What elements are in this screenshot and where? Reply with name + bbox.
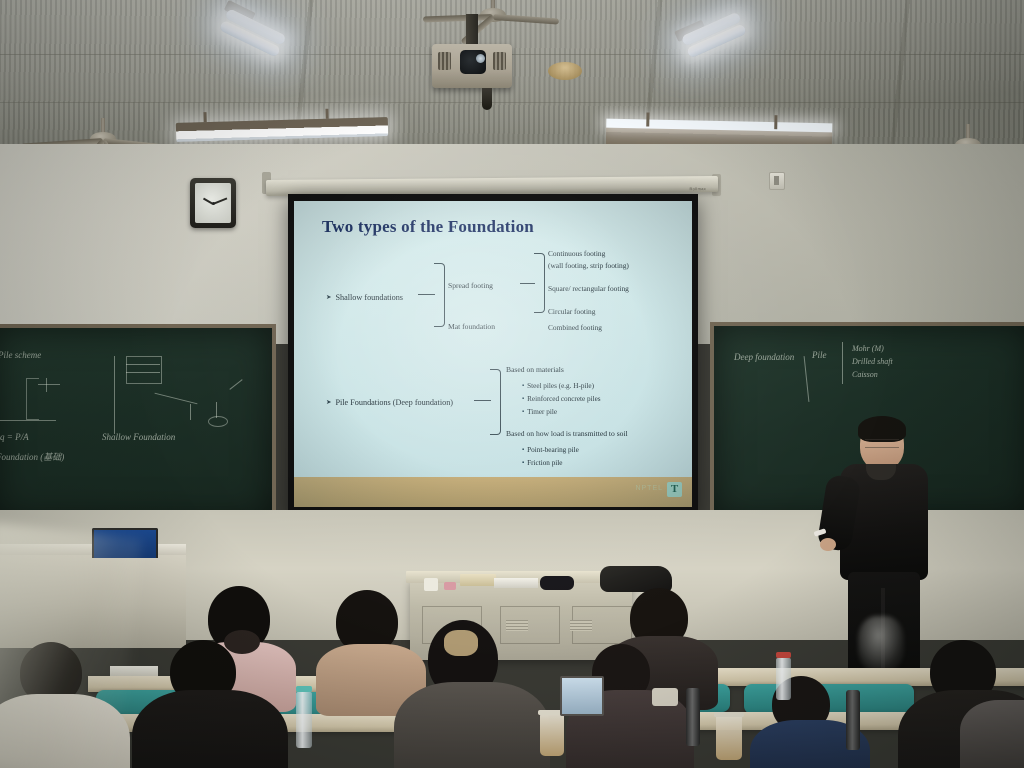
slide-bullet-friction-pile: Friction pile — [522, 459, 562, 467]
thermos-tumbler — [686, 688, 700, 746]
ceiling-projector — [432, 44, 512, 88]
chalk-note-left-1: Pile scheme — [0, 350, 41, 360]
slide-bullet-timer-pile: Timer pile — [522, 408, 557, 416]
student-row1-center — [410, 620, 532, 768]
water-bottle-right — [776, 658, 791, 700]
slide-node-based-on-load-transfer: Based on how load is transmitted to soil — [506, 429, 628, 438]
student-far-right — [960, 700, 1024, 768]
slide-node-shallow-foundations: Shallow foundations — [326, 293, 403, 302]
podium-monitor — [92, 528, 158, 558]
small-item-on-podium — [444, 582, 456, 590]
bracket-pile — [490, 369, 501, 435]
slide-node-mat-foundation: Mat foundation — [448, 322, 495, 331]
water-bottle-left — [296, 692, 312, 748]
papers-on-podium — [494, 578, 538, 588]
glasses-icon — [865, 439, 899, 448]
slide-node-pile-foundations: Pile Foundations (Deep foundation) — [326, 398, 453, 407]
chalk-note-right-5: Caisson — [852, 370, 878, 379]
chalk-note-right-2: Pile — [812, 350, 827, 360]
bracket-shallow — [434, 263, 445, 327]
dome-light-icon — [548, 62, 582, 80]
wall-clock — [190, 178, 236, 228]
ceiling — [0, 0, 1024, 150]
chalk-note-right-1: Deep foundation — [734, 352, 794, 362]
side-cabinet — [0, 552, 186, 648]
chalk-note-left-4: Foundation (基础) — [0, 450, 64, 463]
student-right-front — [756, 676, 860, 768]
slide-bullet-point-bearing-pile: Point-bearing pile — [522, 446, 579, 454]
student-front-left — [0, 642, 120, 768]
blackboard-left: Pile scheme q = P/A Shallow Foundation F… — [0, 324, 276, 524]
stack-of-books — [460, 574, 496, 586]
slide-node-based-on-materials: Based on materials — [506, 365, 564, 374]
slide-node-combined-footing: Combined footing — [548, 323, 602, 332]
slide-logo-icon: T — [667, 482, 682, 497]
notebook-on-desk — [110, 666, 158, 676]
chalk-note-right-3: Mohr (M) — [852, 344, 884, 353]
screen-brand-label: Rollmax — [689, 186, 706, 191]
light-switch-plate[interactable] — [769, 172, 785, 190]
slide-node-circular-footing: Circular footing — [548, 307, 595, 316]
slide-node-wall-strip-footing: (wall footing, strip footing) — [548, 261, 629, 270]
slide-bullet-steel-piles: Steel piles (e.g. H-pile) — [522, 382, 594, 390]
presentation-slide: Two types of the Foundation Shallow foun… — [294, 201, 692, 507]
chalk-note-left-3: Shallow Foundation — [102, 432, 175, 442]
student-row1-left — [150, 640, 270, 768]
slide-node-spread-footing: Spread footing — [448, 281, 493, 290]
chalk-note-right-4: Drilled shaft — [852, 357, 893, 366]
bracket-spread — [534, 253, 545, 313]
slide-title: Two types of the Foundation — [322, 217, 534, 237]
tablet-screen — [560, 676, 604, 716]
dark-object-on-podium — [540, 576, 574, 590]
ceiling-shading — [0, 0, 1024, 150]
slide-node-square-rect-footing: Square/ rectangular footing — [548, 284, 629, 293]
thermos-tumbler-right — [846, 690, 860, 750]
slide-bullet-reinforced-concrete-piles: Reinforced concrete piles — [522, 395, 601, 403]
slide-node-continuous-footing: Continuous footing — [548, 249, 605, 258]
slide-wordmark: NPTEL — [635, 485, 663, 492]
drink-cup-right — [716, 716, 742, 760]
item-on-desk-right — [652, 688, 678, 706]
drink-cup-center — [540, 714, 564, 756]
cup-on-podium — [424, 578, 438, 591]
slide-footer-bar: NPTEL T — [294, 477, 692, 507]
student-row2-tan-coat — [322, 590, 418, 710]
projection-screen: Two types of the Foundation Shallow foun… — [288, 194, 698, 516]
classroom-photo: Rollmax Two types of the Foundation Shal… — [0, 0, 1024, 768]
chalk-note-left-2: q = P/A — [0, 432, 29, 442]
